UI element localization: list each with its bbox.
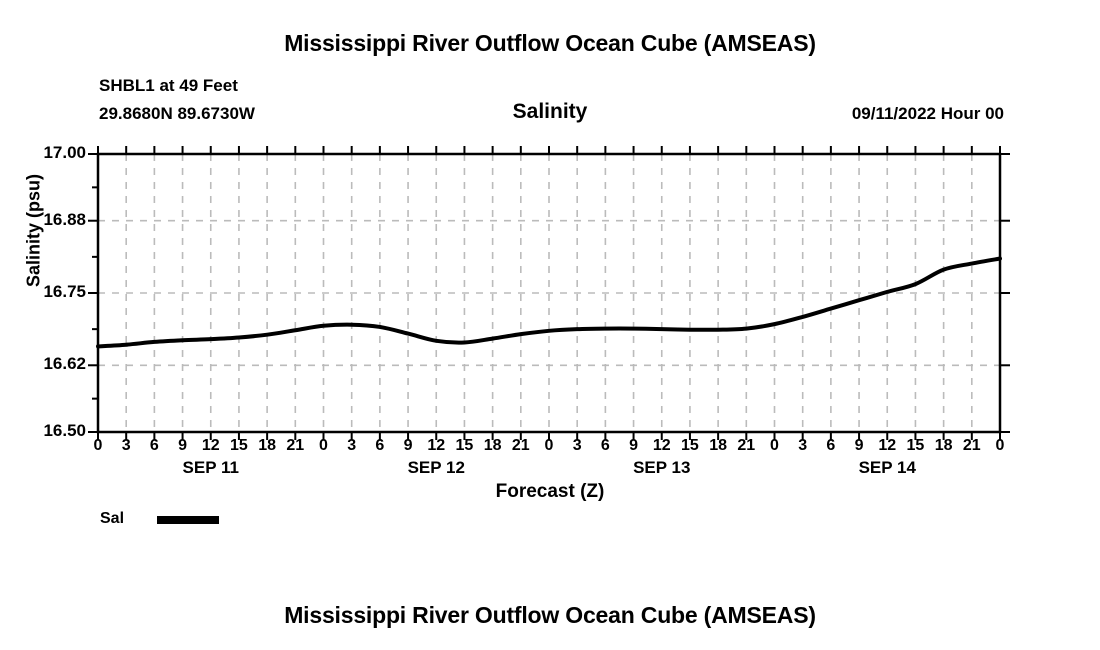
day-label: SEP 14 <box>807 458 967 478</box>
day-label: SEP 11 <box>131 458 291 478</box>
gridlines <box>98 154 1000 432</box>
x-tick-label: 0 <box>980 437 1020 455</box>
y-tick-label: 16.75 <box>14 282 86 302</box>
day-label: SEP 12 <box>356 458 516 478</box>
day-label: SEP 13 <box>582 458 742 478</box>
y-tick-label: 16.62 <box>14 354 86 374</box>
x-axis-title: Forecast (Z) <box>0 481 1100 503</box>
y-tick-label: 16.50 <box>14 421 86 441</box>
footer-title: Mississippi River Outflow Ocean Cube (AM… <box>0 602 1100 629</box>
chart-page: Mississippi River Outflow Ocean Cube (AM… <box>0 0 1100 650</box>
chart-plot-area <box>0 0 1100 650</box>
y-tick-label: 17.00 <box>14 143 86 163</box>
legend-label: Sal <box>100 510 124 528</box>
y-tick-label: 16.88 <box>14 210 86 230</box>
legend-swatch <box>157 516 219 524</box>
